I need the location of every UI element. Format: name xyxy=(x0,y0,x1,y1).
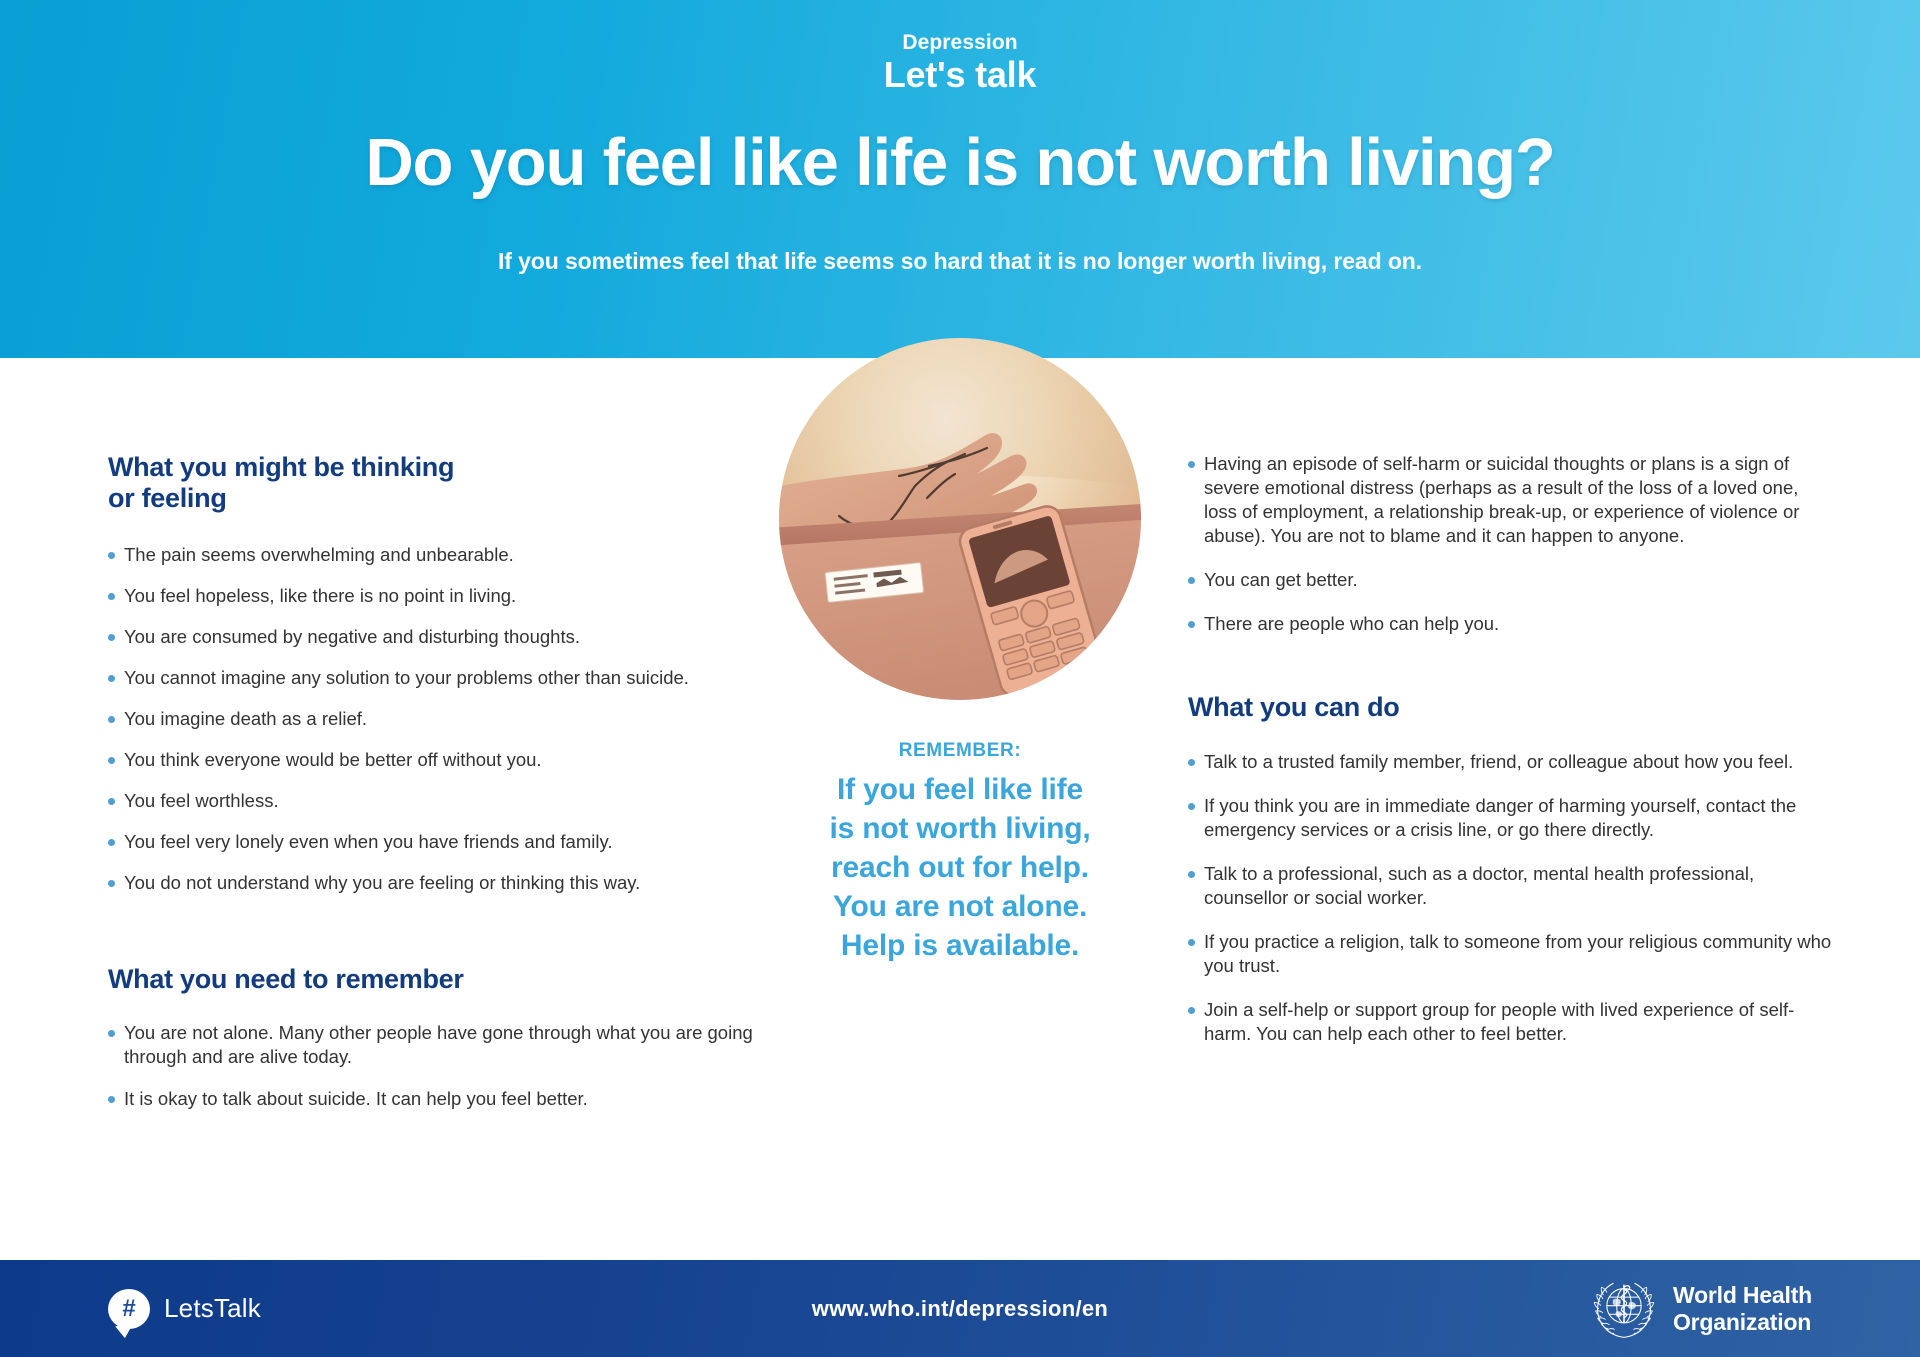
remember-text: If you feel like life is not worth livin… xyxy=(800,770,1120,965)
left-section2-list: You are not alone. Many other people hav… xyxy=(108,1021,758,1111)
list-item: Having an episode of self-harm or suicid… xyxy=(1188,452,1836,548)
who-logo-line1: World Health xyxy=(1673,1282,1812,1308)
left-section1-list: The pain seems overwhelming and unbearab… xyxy=(108,543,758,895)
remember-line: is not worth living, xyxy=(830,812,1091,845)
list-item: You feel hopeless, like there is no poin… xyxy=(108,584,758,608)
right-section-list: Talk to a trusted family member, friend,… xyxy=(1188,750,1836,1046)
who-emblem-icon xyxy=(1591,1276,1657,1342)
list-item: If you think you are in immediate danger… xyxy=(1188,794,1836,842)
column-spacer xyxy=(1188,656,1836,692)
remember-callout: REMEMBER: If you feel like life is not w… xyxy=(800,740,1120,965)
left-section1-title: What you might be thinking or feeling xyxy=(108,452,758,515)
list-item: You think everyone would be better off w… xyxy=(108,748,758,772)
left-section1-title-line1: What you might be thinking xyxy=(108,452,454,482)
list-item: You do not understand why you are feelin… xyxy=(108,871,758,895)
header-banner: Depression Let's talk Do you feel like l… xyxy=(0,0,1920,358)
list-item: You can get better. xyxy=(1188,568,1836,592)
left-section2-title: What you need to remember xyxy=(108,964,758,995)
list-item: You feel very lonely even when you have … xyxy=(108,830,758,854)
right-section-title: What you can do xyxy=(1188,692,1836,723)
poster-root: Depression Let's talk Do you feel like l… xyxy=(0,0,1920,1357)
list-item: If you practice a religion, talk to some… xyxy=(1188,930,1836,978)
who-logo-line2: Organization xyxy=(1673,1309,1812,1335)
page-subtitle: If you sometimes feel that life seems so… xyxy=(0,248,1920,275)
left-section1-title-line2: or feeling xyxy=(108,483,227,513)
who-logo: World Health Organization xyxy=(1591,1276,1812,1342)
campaign-tagline: Let's talk xyxy=(0,56,1920,95)
list-item: You are consumed by negative and disturb… xyxy=(108,625,758,649)
right-intro-list: Having an episode of self-harm or suicid… xyxy=(1188,452,1836,636)
who-logo-text: World Health Organization xyxy=(1673,1282,1812,1334)
list-item: You feel worthless. xyxy=(108,789,758,813)
list-item: You cannot imagine any solution to your … xyxy=(108,666,758,690)
campaign-name: Depression xyxy=(0,32,1920,54)
remember-line: You are not alone. xyxy=(833,890,1087,923)
list-item: Talk to a professional, such as a doctor… xyxy=(1188,862,1836,910)
remember-label: REMEMBER: xyxy=(800,740,1120,762)
list-item: You imagine death as a relief. xyxy=(108,707,758,731)
remember-line: reach out for help. xyxy=(831,851,1089,884)
remember-line: If you feel like life xyxy=(837,773,1083,806)
list-item: Talk to a trusted family member, friend,… xyxy=(1188,750,1836,774)
hero-illustration xyxy=(779,338,1141,700)
campaign-lockup: Depression Let's talk xyxy=(0,32,1920,95)
list-item: You are not alone. Many other people hav… xyxy=(108,1021,758,1069)
right-column: Having an episode of self-harm or suicid… xyxy=(1188,452,1836,1066)
list-item: There are people who can help you. xyxy=(1188,612,1836,636)
left-column: What you might be thinking or feeling Th… xyxy=(108,452,758,1130)
list-item: It is okay to talk about suicide. It can… xyxy=(108,1087,758,1111)
footer-bar: # LetsTalk www.who.int/depression/en xyxy=(0,1260,1920,1357)
page-title: Do you feel like life is not worth livin… xyxy=(0,128,1920,198)
remember-line: Help is available. xyxy=(841,929,1079,962)
column-spacer xyxy=(108,912,758,964)
list-item: Join a self-help or support group for pe… xyxy=(1188,998,1836,1046)
list-item: The pain seems overwhelming and unbearab… xyxy=(108,543,758,567)
